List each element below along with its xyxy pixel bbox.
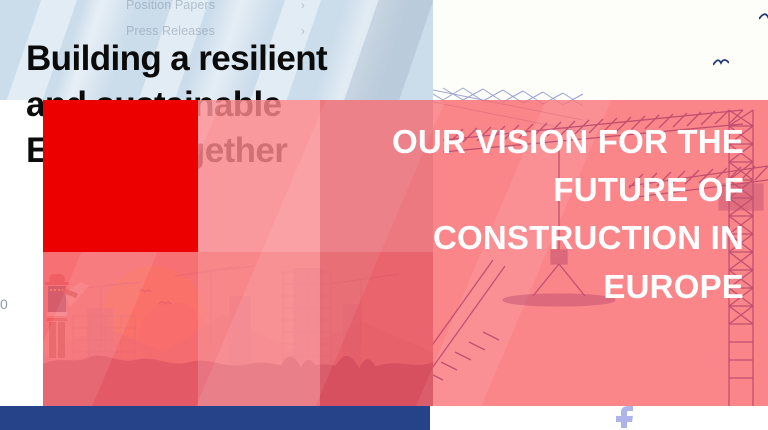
tint-panel-light [198,100,320,406]
facebook-icon[interactable] [612,400,638,428]
menu-item-label: Position Papers [126,0,215,12]
chevron-right-icon: › [301,0,305,12]
bird-icon [713,58,729,67]
menu-item-position-papers[interactable]: Position Papers › [113,0,313,18]
stray-glyph: 0 [0,296,8,312]
page-canvas: Position Papers › Press Releases › Build… [0,0,768,430]
red-color-block [43,100,198,252]
bird-icon [759,12,768,22]
footer-bar [0,406,430,430]
vision-headline: Our vision for the future of constructio… [314,118,744,311]
